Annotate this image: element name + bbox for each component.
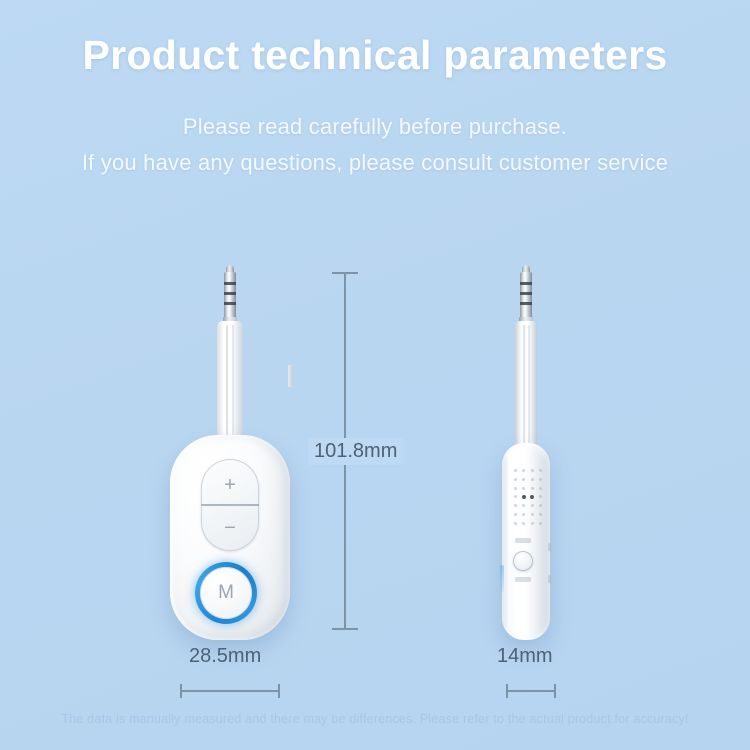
edge-detail (548, 575, 551, 583)
side-nub (288, 365, 293, 387)
grille-dot (531, 469, 534, 472)
side-width-cap-right (554, 684, 556, 698)
grille-dot (514, 478, 517, 481)
grille-dot (514, 504, 517, 507)
height-dimension-cap-bottom (332, 628, 358, 630)
product-front-view: + − M (170, 265, 290, 640)
plug-insulator-ring (520, 302, 532, 305)
grille-dot (531, 522, 534, 525)
plug-insulator-ring (520, 282, 532, 285)
edge-detail (548, 543, 551, 551)
audio-jack-plug-icon (219, 265, 241, 325)
device-body-front: + − M (170, 435, 290, 640)
front-width-cap-left (180, 684, 182, 698)
grille-dot (522, 522, 525, 525)
side-marking (515, 538, 531, 543)
microphone-grille (510, 465, 546, 529)
grille-dot (539, 522, 542, 525)
grille-dot (530, 495, 534, 499)
grille-dot (539, 504, 542, 507)
plug-insulator-ring (520, 292, 532, 295)
front-width-cap-right (278, 684, 280, 698)
page-title: Product technical parameters (0, 32, 750, 79)
grille-dot (539, 469, 542, 472)
grille-dot (539, 495, 542, 498)
grille-dot (522, 487, 525, 490)
grille-dot (522, 504, 525, 507)
grille-dot (522, 469, 525, 472)
side-width-dimension-label: 14mm (497, 645, 553, 668)
grille-dot (514, 513, 517, 516)
plug-insulator-ring (224, 282, 236, 285)
subtitle-line-1: Please read carefully before purchase. (0, 114, 750, 140)
side-width-dimension-line (506, 690, 556, 692)
grille-dot (539, 478, 542, 481)
grille-dot (514, 495, 517, 498)
plug-shaft (520, 272, 532, 322)
disclaimer-text: The data is manually measured and there … (0, 712, 750, 726)
grille-dot (531, 513, 534, 516)
plug-shaft (224, 272, 236, 322)
grille-dot (522, 513, 525, 516)
side-led-indicator (500, 565, 504, 593)
grille-dot (531, 478, 534, 481)
volume-down-icon[interactable]: − (201, 518, 259, 538)
front-width-dimension-label: 28.5mm (189, 645, 261, 668)
plug-insulator-ring (224, 292, 236, 295)
side-power-button[interactable] (513, 551, 533, 571)
grille-dot (522, 478, 525, 481)
product-spec-page: Product technical parameters Please read… (0, 0, 750, 750)
grille-dot (522, 495, 526, 499)
side-marking (515, 577, 531, 582)
grille-dot (531, 487, 534, 490)
grille-dot (539, 487, 542, 490)
front-width-dimension-line (180, 690, 280, 692)
product-side-view (495, 265, 557, 640)
device-stem (515, 321, 537, 451)
side-width-cap-left (506, 684, 508, 698)
grille-dot (514, 487, 517, 490)
grille-dot (514, 522, 517, 525)
plug-insulator-ring (224, 302, 236, 305)
height-dimension-cap-top (332, 272, 358, 274)
subtitle-line-2: If you have any questions, please consul… (0, 150, 750, 176)
grille-dot (531, 504, 534, 507)
device-stem (217, 321, 243, 443)
audio-jack-plug-icon (515, 265, 537, 325)
height-dimension-label: 101.8mm (308, 438, 403, 465)
grille-dot (514, 469, 517, 472)
mode-button-led-ring: M (195, 562, 257, 624)
rocker-divider (201, 504, 259, 506)
volume-up-icon[interactable]: + (201, 475, 259, 495)
mode-button[interactable]: M (200, 567, 252, 619)
grille-dot (539, 513, 542, 516)
